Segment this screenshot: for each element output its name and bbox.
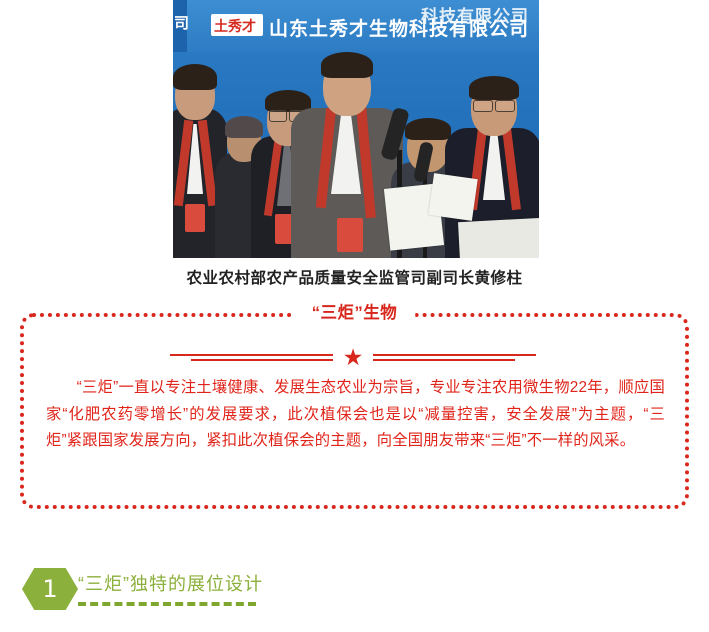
photo-person-glasses [473,100,493,112]
photo-banner-left-text: 司 [174,12,189,33]
photo-person-badge [185,204,205,232]
section-number: 1 [22,568,78,610]
divider-line-left-top [170,354,333,356]
photo-speaker-hair [321,52,373,78]
section-title: “三炬”独特的展位设计 [78,570,263,596]
photo-person-hair [173,64,217,90]
divider-line-left-bottom [191,359,333,361]
photo-company-logo: 土秀才 [211,14,263,36]
divider-line-right-top [373,354,536,356]
article-photo-block: 司 土秀才 科技有限公司 山东土秀才生物科技有限公司 [0,0,709,289]
photo-person-glasses [269,110,287,122]
photo-banner-left-edge: 司 [173,0,187,52]
photo-person-glasses [495,100,515,112]
section-number-badge: 1 [22,568,78,610]
callout-title: “三炬”生物 [294,300,416,326]
photo-caption: 农业农村部农产品质量安全监管司副司长黄修柱 [186,269,522,289]
divider-line-right-bottom [373,359,515,361]
section-heading-1: 1 “三炬”独特的展位设计 [22,566,682,622]
callout-star-divider: ★ [20,345,689,371]
photo-speech-paper [428,173,477,221]
section-dashed-underline [78,602,256,606]
photo-person-hair [469,76,519,100]
conference-speech-photo: 司 土秀才 科技有限公司 山东土秀才生物科技有限公司 [173,0,539,258]
photo-banner-main-text: 山东土秀才生物科技有限公司 [269,14,529,41]
photo-company-logo-text: 土秀才 [214,16,256,36]
star-icon: ★ [342,347,364,369]
callout-paragraph: “三炬”一直以专注土壤健康、发展生态农业为宗旨，专业专注农用微生物22年，顺应国… [46,375,665,455]
photo-speaker-badge [337,218,363,252]
highlight-callout-box: “三炬”生物 ★ “三炬”一直以专注土壤健康、发展生态农业为宗旨，专业专注农用微… [20,313,689,509]
photo-front-table [458,218,539,258]
